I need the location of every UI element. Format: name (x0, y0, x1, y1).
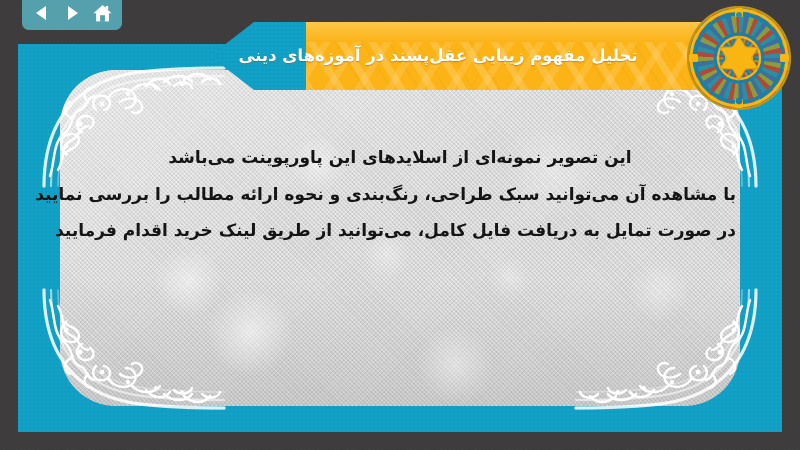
forward-button[interactable] (61, 2, 83, 24)
body-line-1: این تصویر نمونه‌ای از اسلایدهای این پاور… (64, 140, 736, 177)
back-button[interactable] (31, 2, 53, 24)
home-button[interactable] (91, 2, 113, 24)
body-line-2: با مشاهده آن می‌توانید سبک طراحی، رنگ‌بن… (64, 177, 736, 214)
slide-title-bar: تحلیل مفهوم زیبایی عقل‌پسند در آموزه‌های… (210, 22, 730, 90)
body-line-3: در صورت تمایل به دریافت فایل کامل، می‌تو… (64, 213, 736, 250)
persian-medallion-icon (687, 6, 791, 110)
page-title: تحلیل مفهوم زیبایی عقل‌پسند در آموزه‌های… (210, 22, 730, 90)
slide-frame: این تصویر نمونه‌ای از اسلایدهای این پاور… (18, 44, 782, 432)
home-icon (92, 3, 113, 24)
slide-viewer: این تصویر نمونه‌ای از اسلایدهای این پاور… (0, 0, 800, 450)
slide-body-text: این تصویر نمونه‌ای از اسلایدهای این پاور… (64, 140, 736, 250)
navigation-panel (22, 0, 122, 30)
back-triangle-icon (32, 3, 52, 23)
forward-triangle-icon (62, 3, 82, 23)
